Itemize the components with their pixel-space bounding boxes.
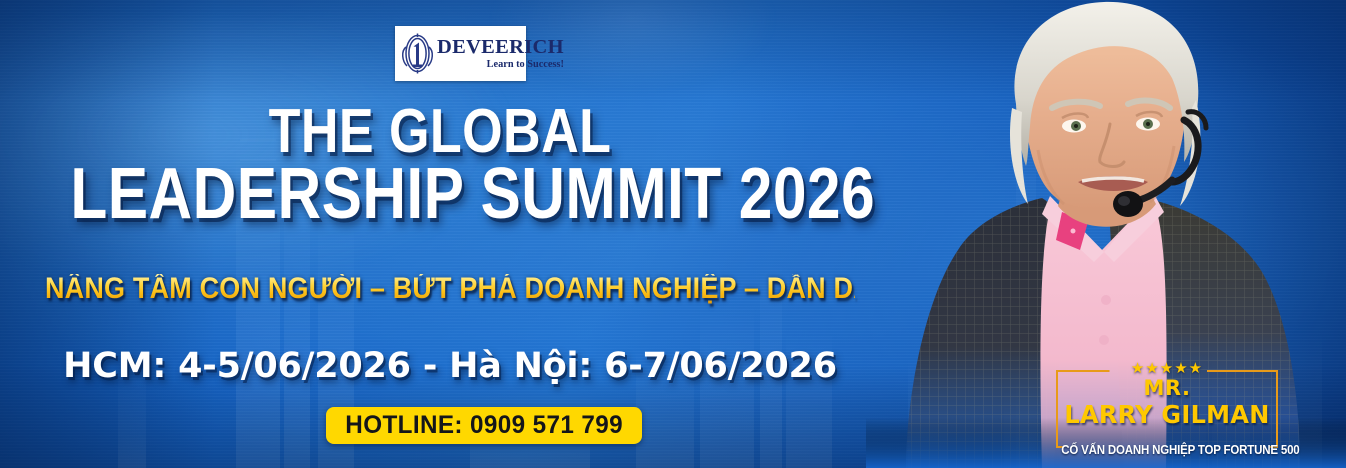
hotline-label: HOTLINE: 0909 571 799: [345, 411, 623, 440]
hotline-badge[interactable]: HOTLINE: 0909 571 799: [326, 407, 642, 444]
logo-wordmark: DEVEERICH: [437, 37, 564, 58]
event-subtitle: NÂNG TẦM CON NGƯỜI – BỨT PHÁ DOANH NGHIỆ…: [45, 274, 855, 304]
five-stars-icon: ★★★★★: [1056, 361, 1278, 376]
event-title: THE GLOBAL LEADERSHIP SUMMIT 2026: [0, 104, 880, 227]
speaker-name: LARRY GILMAN: [1060, 402, 1273, 427]
logo-tagline: Learn to Success!: [437, 60, 564, 71]
event-banner: DEVEERICH Learn to Success! THE GLOBAL L…: [0, 0, 1346, 468]
title-line-2: LEADERSHIP SUMMIT 2026: [70, 162, 809, 227]
title-line-1: THE GLOBAL: [70, 104, 809, 160]
speaker-honorific: MR.: [1056, 378, 1278, 399]
brand-logo[interactable]: DEVEERICH Learn to Success!: [395, 26, 526, 81]
speaker-name-plate: ★★★★★ MR. LARRY GILMAN CỐ VẤN DOANH NGHI…: [1056, 370, 1278, 448]
numeral-one-emblem-icon: [401, 31, 434, 76]
speaker-role: CỐ VẤN DOANH NGHIỆP TOP FORTUNE 500: [1061, 444, 1273, 457]
event-dates: HCM: 4-5/06/2026 - Hà Nội: 6-7/06/2026: [0, 346, 900, 386]
